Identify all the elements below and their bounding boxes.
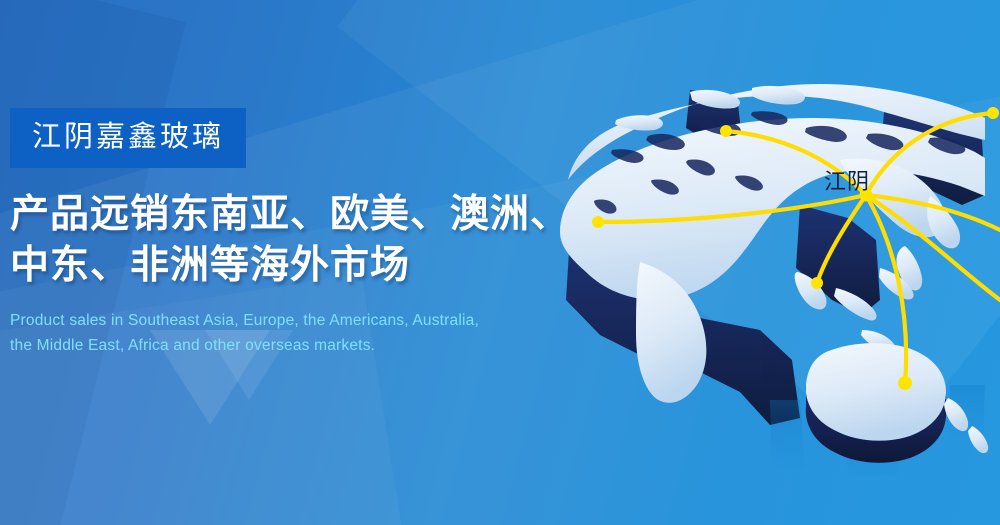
node-far-east: [987, 107, 999, 119]
subtitle-line-2: the Middle East, Africa and other overse…: [10, 333, 555, 358]
subtitle-line-1: Product sales in Southeast Asia, Europe,…: [10, 308, 555, 333]
brand-badge: 江阴嘉鑫玻璃: [10, 108, 246, 168]
headline-line-2: 中东、非洲等海外市场: [10, 240, 570, 291]
node-americas-west: [592, 216, 604, 228]
headline: 产品远销东南亚、欧美、澳洲、 中东、非洲等海外市场: [10, 189, 570, 292]
node-southeast-asia: [811, 277, 823, 289]
promo-banner: 江阴 江阴嘉鑫玻璃 产品远销东南亚、欧美、澳洲、 中东、非洲等海外市场 Prod…: [0, 0, 1000, 525]
node-australia: [898, 376, 912, 390]
map-hub-label: 江阴: [824, 169, 870, 194]
node-europe-north: [720, 125, 732, 137]
world-map-illustration: 江阴: [530, 0, 1000, 525]
headline-line-1: 产品远销东南亚、欧美、澳洲、: [10, 189, 570, 240]
banner-text-column: 江阴嘉鑫玻璃 产品远销东南亚、欧美、澳洲、 中东、非洲等海外市场 Product…: [10, 108, 570, 358]
subtitle: Product sales in Southeast Asia, Europe,…: [10, 308, 555, 358]
